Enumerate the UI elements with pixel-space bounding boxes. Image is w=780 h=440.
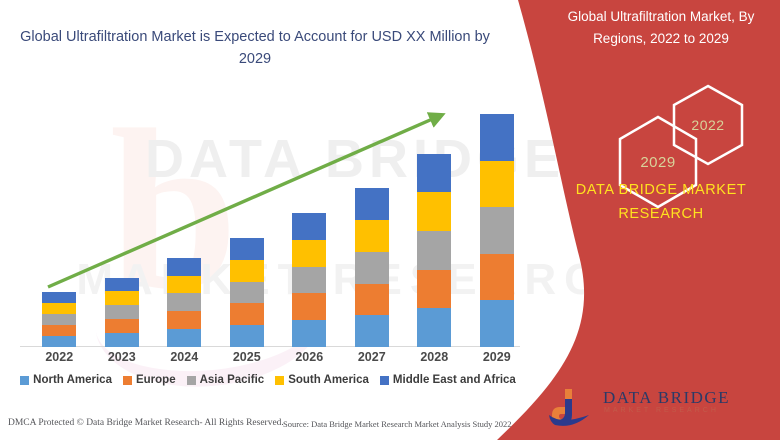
bar-segment (42, 303, 76, 314)
bar-2029[interactable] (480, 114, 514, 347)
legend-label: North America (33, 374, 112, 386)
bar-segment (480, 114, 514, 161)
logo-b-icon (545, 385, 597, 429)
bar-segment (167, 258, 201, 276)
bar-plot (20, 95, 520, 347)
x-axis-labels: 20222023202420252026202720282029 (20, 350, 520, 370)
bar-2025[interactable] (230, 238, 264, 347)
legend-label: Middle East and Africa (393, 374, 516, 386)
bar-segment (480, 207, 514, 254)
legend-item-europe[interactable]: Europe (123, 374, 176, 386)
bar-2027[interactable] (355, 188, 389, 347)
bar-segment (230, 325, 264, 347)
bar-segment (230, 260, 264, 282)
x-label-2027: 2027 (342, 350, 402, 364)
bar-segment (480, 300, 514, 347)
bar-2026[interactable] (292, 213, 326, 347)
bar-segment (42, 325, 76, 336)
bar-segment (355, 188, 389, 220)
legend-label: Europe (136, 374, 176, 386)
bar-2023[interactable] (105, 278, 139, 347)
legend-label: South America (288, 374, 369, 386)
bar-segment (292, 267, 326, 294)
x-label-2029: 2029 (467, 350, 527, 364)
hexagon-2029-label: 2029 (640, 154, 675, 171)
bar-segment (355, 315, 389, 347)
bar-segment (42, 292, 76, 303)
right-panel: Global Ultrafiltration Market, By Region… (540, 0, 780, 440)
bar-segment (417, 192, 451, 231)
bar-2028[interactable] (417, 154, 451, 347)
bar-segment (230, 238, 264, 260)
bar-segment (292, 320, 326, 347)
legend-swatch-icon (187, 376, 196, 385)
bar-segment (167, 276, 201, 294)
legend-item-south-america[interactable]: South America (275, 374, 369, 386)
bar-segment (417, 270, 451, 309)
bar-segment (480, 254, 514, 301)
bar-segment (167, 311, 201, 329)
bar-segment (105, 278, 139, 292)
x-label-2026: 2026 (279, 350, 339, 364)
bar-segment (417, 154, 451, 193)
footer-copyright: DMCA Protected © Data Bridge Market Rese… (8, 418, 284, 428)
bar-segment (42, 336, 76, 347)
legend-item-north-america[interactable]: North America (20, 374, 112, 386)
bar-segment (105, 333, 139, 347)
legend-swatch-icon (380, 376, 389, 385)
bar-segment (355, 220, 389, 252)
x-label-2028: 2028 (404, 350, 464, 364)
chart-title: Global Ultrafiltration Market is Expecte… (20, 26, 490, 70)
bar-segment (417, 308, 451, 347)
bar-segment (417, 231, 451, 270)
legend-swatch-icon (20, 376, 29, 385)
x-label-2024: 2024 (154, 350, 214, 364)
bar-segment (292, 213, 326, 240)
logo-subtitle: MARKET RESEARCH (604, 407, 719, 414)
x-label-2025: 2025 (217, 350, 277, 364)
legend-label: Asia Pacific (200, 374, 265, 386)
brand-name: DATA BRIDGE MARKET RESEARCH (545, 178, 777, 226)
bar-segment (105, 305, 139, 319)
legend-swatch-icon (275, 376, 284, 385)
x-label-2022: 2022 (29, 350, 89, 364)
bar-segment (355, 284, 389, 316)
data-bridge-logo: DATA BRIDGE MARKET RESEARCH (545, 385, 745, 430)
chart-infographic: b DATA BRIDGE MARKET RESEARCH Global Ult… (0, 0, 780, 440)
footer-source: Source: Data Bridge Market Research Mark… (283, 419, 512, 429)
panel-title: Global Ultrafiltration Market, By Region… (545, 6, 777, 50)
bar-segment (105, 291, 139, 305)
bar-segment (230, 282, 264, 304)
bar-segment (167, 293, 201, 311)
bar-segment (355, 252, 389, 284)
bar-segment (42, 314, 76, 325)
bar-segment (292, 293, 326, 320)
x-label-2023: 2023 (92, 350, 152, 364)
bar-segment (105, 319, 139, 333)
bar-2024[interactable] (167, 258, 201, 347)
legend-item-asia-pacific[interactable]: Asia Pacific (187, 374, 265, 386)
chart-legend: North AmericaEuropeAsia PacificSouth Ame… (18, 374, 518, 386)
logo-title: DATA BRIDGE (603, 388, 730, 408)
bar-segment (292, 240, 326, 267)
legend-swatch-icon (123, 376, 132, 385)
bar-segment (167, 329, 201, 347)
legend-item-middle-east-and-africa[interactable]: Middle East and Africa (380, 374, 516, 386)
bar-2022[interactable] (42, 292, 76, 347)
bar-segment (480, 161, 514, 208)
chart-area: Global Ultrafiltration Market is Expecte… (0, 0, 540, 440)
bar-segment (230, 303, 264, 325)
